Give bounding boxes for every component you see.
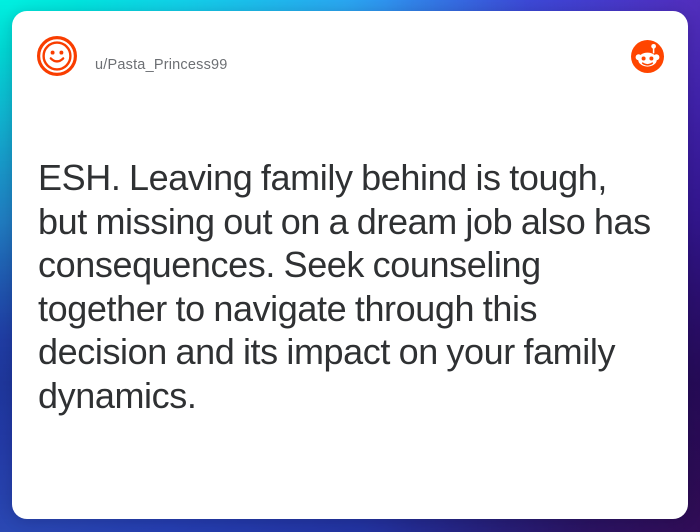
post-body-text: ESH. Leaving family behind is tough, but…	[38, 156, 662, 417]
reddit-post-card: u/Pasta_Princess99	[12, 11, 688, 519]
username-label: u/Pasta_Princess99	[95, 57, 228, 73]
smiley-face-icon[interactable]	[36, 35, 78, 77]
gradient-background: u/Pasta_Princess99	[0, 0, 700, 532]
post-header: u/Pasta_Princess99	[12, 11, 688, 103]
reddit-snoo-icon[interactable]	[631, 40, 664, 73]
